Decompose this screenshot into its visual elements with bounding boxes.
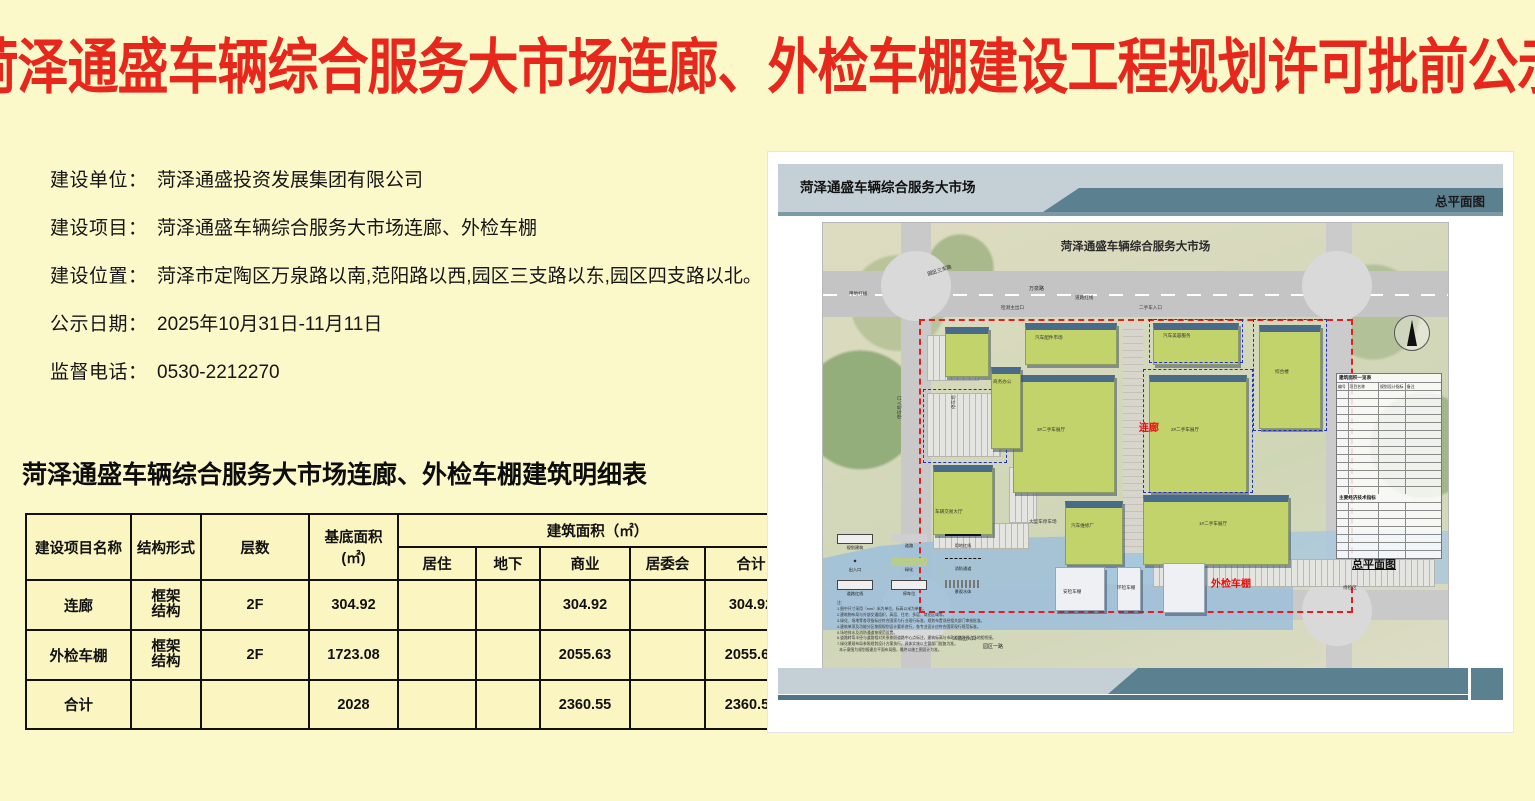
building-showroom-3 [1013,375,1115,493]
symbol-parking-icon [891,580,927,590]
building-label-env-shed: 环检车棚 [1117,585,1135,591]
info-row-location: 建设位置 ： 菏泽市定陶区万泉路以南,范阳路以西,园区三支路以东,园区四支路以北… [50,261,750,288]
symbol-item: 景观水体 [945,580,981,597]
legend-col-metric: 规划设计指标 [1379,383,1406,390]
site-plan-drawing: 菏泽通盛车辆综合服务大市场 [822,222,1449,669]
symbol-label: 景观水体 [955,589,972,594]
building-north-west [945,327,989,377]
cell-commercial: 304.92 [540,580,630,630]
symbol-water-icon [945,580,981,588]
panel-footer-block [1471,668,1503,700]
building-auto-parts-market [1025,323,1117,365]
table-row: 外检车棚 框架 结构 2F 1723.08 2055.63 2055.63 [26,630,797,680]
symbol-road-icon [891,534,927,542]
building-label-parts: 汽车配件市场 [1035,335,1063,341]
legend-row [1337,462,1441,470]
header-project-name: 建设项目名称 [26,514,131,580]
legend-row [1337,390,1441,398]
building-label-truck-parking: 大型车停车场 [1029,519,1057,525]
panel-footer-rule [778,695,1468,700]
plan-legend2-title: 主要经济技术指标 [1337,494,1441,502]
legend-row [1337,454,1441,462]
symbol-item: 道路 [891,534,927,551]
plan-legend-title: 建筑面积一览表 [1337,374,1441,382]
cell-underground [476,580,540,630]
legend-row [1337,446,1441,454]
symbol-label: 道路红线 [847,591,864,596]
symbol-label: 绿化 [905,567,913,572]
symbol-legend-row: ◆出入口 绿化 消防通道 [837,558,1017,573]
panel-footer-accent [1108,668,1468,694]
header-structure: 结构形式 [131,514,201,580]
cell-committee [630,630,705,680]
symbol-entrance-icon: ◆ [837,558,873,566]
table-row: 连廊 框架 结构 2F 304.92 304.92 304.92 [26,580,797,630]
legend-col-no: 编号 [1337,383,1349,390]
building-label-waiting-area: 待检区 [1343,585,1357,591]
info-label-phone: 监督电话 [50,357,128,384]
info-colon-phone: ： [128,357,147,384]
info-row-date: 公示日期 ： 2025年10月31日-11月11日 [50,309,750,336]
legend-row [1337,422,1441,430]
legend-row [1337,478,1441,486]
cell-floors: 2F [201,580,309,630]
info-colon-unit: ： [128,165,147,192]
symbol-item: ◆出入口 [837,558,873,573]
panel-header-rule [778,212,1503,216]
symbol-legend-row: 规划建筑 道路 用地红线 [837,534,1017,551]
legend2-row [1337,502,1441,510]
cell-structure: 框架 结构 [131,630,201,680]
panel-footer-bar [778,668,1468,694]
road-node-nw [881,251,951,321]
plan-legend-header-row: 编号 项目名称 规划设计指标 备注 [1337,382,1441,390]
header-committee: 居委会 [630,547,705,580]
symbol-item: 停车位 [891,580,927,597]
building-label-beauty: 汽车美容服务 [1163,333,1191,339]
building-label-showroom3: 3#二手车展厅 [1037,427,1065,433]
cell-floors: 2F [201,630,309,680]
north-arrow-icon [1394,315,1430,351]
cell-floors [201,680,309,729]
symbol-label: 道路 [905,543,913,548]
info-label-unit: 建设单位 [50,165,128,192]
plan-notes: 注： 1.图中尺寸采用（mm）米为单位，标高以米为单位。 2.建筑物布局与外部交… [837,601,1167,654]
symbol-item: 绿化 [891,558,927,573]
info-label-location: 建设位置 [50,261,128,288]
plan-inner-title: 菏泽通盛车辆综合服务大市场 [1061,238,1211,254]
legend-row [1337,414,1441,422]
building-trading-hall [933,465,993,535]
gate-label-used-car-entry: 二手车入口 [1139,305,1162,311]
symbol-green-icon [891,558,927,566]
info-colon-date: ： [128,309,147,336]
legend-col-name: 项目名称 [1349,383,1380,390]
cell-structure-line2: 结构 [132,655,200,670]
project-info-block: 建设单位 ： 菏泽通盛投资发展集团有限公司 建设项目 ： 菏泽通盛车辆综合服务大… [50,165,750,405]
header-commercial: 商业 [540,547,630,580]
info-label-project: 建设项目 [50,213,128,240]
cell-base-area: 304.92 [309,580,398,630]
symbol-building-icon [837,534,873,544]
building-detail-table-wrapper: 建设项目名称 结构形式 层数 基底面积 (㎡) 建筑面积（㎡） 居住 地下 商业… [25,513,798,730]
building-label-complex: 综合楼 [1275,369,1289,375]
legend2-row [1337,510,1441,518]
cell-base-area: 1723.08 [309,630,398,680]
symbol-label: 规划建筑 [847,545,864,550]
symbol-label: 消防通道 [955,566,972,571]
info-value-date: 2025年10月31日-11月11日 [157,309,382,336]
building-detail-table: 建设项目名称 结构形式 层数 基底面积 (㎡) 建筑面积（㎡） 居住 地下 商业… [25,513,798,730]
legend-row [1337,406,1441,414]
cell-structure-line2: 结构 [132,605,200,620]
table-row-total: 合计 2028 2360.55 2360.55 [26,680,797,729]
cell-commercial: 2055.63 [540,630,630,680]
cell-name: 外检车棚 [26,630,131,680]
public-notice-page: 菏泽通盛车辆综合服务大市场连廊、外检车棚建设工程规划许可批前公示 建设单位 ： … [0,0,1535,801]
header-base-area-text: 基底面积 [310,526,397,547]
symbol-item: 规划建筑 [837,534,873,551]
cell-underground [476,680,540,729]
header-build-area-group: 建筑面积（㎡） [398,514,797,547]
building-label-showroom2: 2#二手车展厅 [1171,427,1199,433]
info-label-date: 公示日期 [50,309,128,336]
cell-structure: 框架 结构 [131,580,201,630]
central-pedestrian-spine [1123,323,1143,553]
building-label-showroom1: 1#二手车展厅 [1199,521,1227,527]
building-comprehensive-outline [1253,319,1327,431]
symbol-label: 用地红线 [955,543,972,548]
legend2-row [1337,542,1441,550]
plan-legend-table: 建筑面积一览表 编号 项目名称 规划设计指标 备注 [1336,373,1442,559]
page-title-text: 菏泽通盛车辆综合服务大市场连廊、外检车棚建设工程规划许可批前公示 [0,18,1535,105]
legend-col-remark: 备注 [1406,383,1441,390]
info-colon-location: ： [128,261,147,288]
panel-header-title: 菏泽通盛车辆综合服务大市场 [800,176,976,196]
shed-external-inspection [1163,563,1205,613]
cell-underground [476,630,540,680]
cell-residential [398,630,476,680]
label-land-redline: 用地红线 [849,291,867,297]
symbol-item: 道路红线 [837,580,873,597]
symbol-legend-row: 道路红线 停车位 景观水体 [837,580,1017,597]
panel-header-right-label: 总平面图 [1435,191,1485,210]
red-label-corridor: 连廊 [1139,419,1159,434]
legend-row [1337,438,1441,446]
gate-label-main-exit: 检测主出口 [1001,305,1024,311]
cell-committee [630,680,705,729]
legend-row [1337,398,1441,406]
info-value-unit: 菏泽通盛投资发展集团有限公司 [157,165,423,192]
info-value-location: 菏泽市定陶区万泉路以南,范阳路以西,园区三支路以东,园区四支路以北。 [157,261,762,288]
cell-name: 连廊 [26,580,131,630]
gate-label-parking-entry: 停车场入口 [897,396,903,419]
legend2-row [1337,534,1441,542]
legend-row [1337,470,1441,478]
info-row-project: 建设项目 ： 菏泽通盛车辆综合服务大市场连廊、外检车棚 [50,213,750,240]
panel-header-accent: 总平面图 [1043,188,1503,212]
legend2-row [1337,518,1441,526]
info-row-unit: 建设单位 ： 菏泽通盛投资发展集团有限公司 [50,165,750,192]
symbol-item: 消防通道 [945,558,981,573]
cell-structure-line1: 框架 [132,640,200,655]
header-base-area-unit: (㎡) [310,547,397,568]
info-row-phone: 监督电话 ： 0530-2212270 [50,357,750,384]
legend2-row [1337,526,1441,534]
building-label-trading-hall: 车辆交易大厅 [935,509,963,515]
table-caption: 菏泽通盛车辆综合服务大市场连廊、外检车棚建筑明细表 [22,455,647,491]
cell-committee [630,580,705,630]
road-node-ne [1302,251,1372,321]
building-label-business: 商务办公 [993,379,1011,385]
info-colon-project: ： [128,213,147,240]
symbol-label: 出入口 [849,567,862,572]
cell-structure-line1: 框架 [132,590,200,605]
page-title: 菏泽通盛车辆综合服务大市场连廊、外检车棚建设工程规划许可批前公示 [0,26,1535,98]
legend-row [1337,486,1441,494]
site-plan-panel: 菏泽通盛车辆综合服务大市场 总平面图 菏泽通盛车辆综合服务大市场 [768,152,1513,732]
red-label-shed: 外检车棚 [1211,575,1251,590]
cell-residential [398,580,476,630]
symbol-roadline-icon [837,580,873,590]
header-underground: 地下 [476,547,540,580]
info-value-phone: 0530-2212270 [157,362,280,384]
building-showroom-1 [1143,495,1289,565]
panel-header: 菏泽通盛车辆综合服务大市场 总平面图 [778,164,1503,212]
building-label-parking: 停车场 [951,395,957,409]
cell-commercial: 2360.55 [540,680,630,729]
building-label-safety-shed: 安检车棚 [1063,589,1081,595]
plan-inner-subtitle: 总平面图 [1352,556,1396,572]
building-auto-beauty-outline [1149,319,1243,363]
symbol-item: 用地红线 [945,534,981,551]
symbol-label: 停车位 [903,591,916,596]
road-label-north: 万泉路 [1029,285,1044,292]
label-road-redline: 道路红线 [1075,295,1093,301]
symbol-fire-lane-icon [945,558,981,565]
cell-base-area: 2028 [309,680,398,729]
info-value-project: 菏泽通盛车辆综合服务大市场连廊、外检车棚 [157,213,537,240]
cell-name: 合计 [26,680,131,729]
header-base-area: 基底面积 (㎡) [309,514,398,580]
north-arrow-needle-core [1409,320,1416,346]
cell-residential [398,680,476,729]
plan-symbol-legend: 规划建筑 道路 用地红线 ◆出入口 绿化 消防通道 道路红线 停车位 景观水体 [837,534,1017,604]
cell-structure [131,680,201,729]
building-repair-shop [1065,501,1123,565]
symbol-landline-icon [945,534,981,542]
header-floors: 层数 [201,514,309,580]
legend-row [1337,430,1441,438]
table-header-row-1: 建设项目名称 结构形式 层数 基底面积 (㎡) 建筑面积（㎡） [26,514,797,547]
building-label-repair: 汽车维修厂 [1071,523,1094,529]
header-residential: 居住 [398,547,476,580]
